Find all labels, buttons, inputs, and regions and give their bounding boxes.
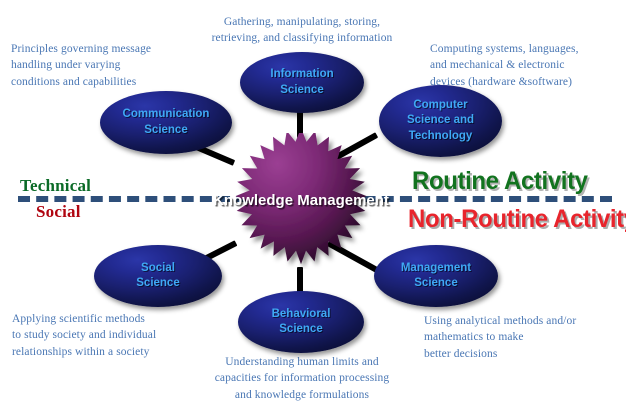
zone-label-social: Social: [36, 202, 81, 222]
zone-label-routine-activity: Routine Activity: [412, 167, 588, 196]
caption-communication-science: Principles governing message handling un…: [11, 41, 203, 90]
node-label-communication-science: Communication Science: [123, 107, 210, 138]
caption-social-science: Applying scientific methods to study soc…: [12, 311, 206, 360]
caption-information-science: Gathering, manipulating, storing, retrie…: [186, 14, 418, 47]
node-label-social-science: Social Science: [136, 261, 179, 292]
knowledge-management-diagram: Knowledge Management Technical Social Ro…: [0, 0, 626, 401]
zone-label-technical: Technical: [20, 176, 91, 196]
node-behavioral-science[interactable]: Behavioral Science: [238, 291, 364, 353]
node-computer-science-and-technology[interactable]: Computer Science and Technology: [379, 85, 502, 157]
caption-computer-science-and-technology: Computing systems, languages, and mechan…: [430, 41, 626, 90]
caption-behavioral-science: Understanding human limits and capacitie…: [188, 354, 416, 401]
caption-management-science: Using analytical methods and/or mathemat…: [424, 313, 622, 362]
node-label-information-science: Information Science: [270, 67, 333, 98]
zone-label-non-routine-activity: Non-Routine Activity: [408, 205, 626, 234]
node-social-science[interactable]: Social Science: [94, 245, 222, 307]
node-label-management-science: Management Science: [401, 261, 471, 292]
node-label-computer-science-and-technology: Computer Science and Technology: [407, 98, 474, 144]
node-information-science[interactable]: Information Science: [240, 52, 364, 113]
center-starburst: Knowledge Management: [208, 133, 394, 269]
node-label-behavioral-science: Behavioral Science: [272, 307, 331, 338]
